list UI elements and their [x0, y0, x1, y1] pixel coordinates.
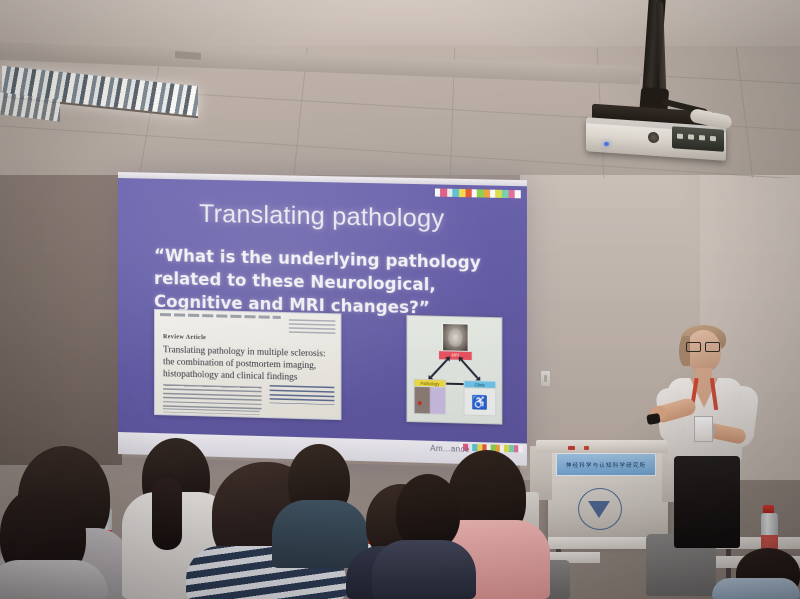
podium-indicator-led	[568, 446, 575, 450]
attendee-body	[372, 540, 476, 599]
projection-screen: Translating pathology “What is the under…	[118, 172, 527, 469]
podium-indicator-led-secondary	[584, 446, 589, 450]
light-switch[interactable]	[540, 370, 551, 387]
article-header-line	[160, 313, 281, 319]
attendee-head	[396, 474, 460, 550]
left-wall-shadowed	[0, 155, 122, 465]
journal-article-thumbnail: Review Article Translating pathology in …	[154, 309, 341, 420]
presenter-skirt	[674, 456, 740, 548]
attendee-body	[0, 560, 108, 599]
institution-logo	[578, 488, 622, 530]
wheelchair-icon: ♿	[464, 387, 497, 416]
slide-title: Translating pathology	[118, 198, 527, 236]
projector-power-led	[604, 142, 609, 146]
mri-brain-scan-image	[442, 323, 469, 352]
attendee-ponytail	[152, 478, 182, 550]
histopathology-image	[414, 386, 447, 415]
slide-footer-text: Am...ance	[430, 444, 470, 454]
arrow-mri-to-clinic	[461, 359, 479, 379]
podium-sign: 神经科学与认知科学研究所	[556, 453, 656, 476]
article-title: Translating pathology in multiple sclero…	[163, 345, 332, 385]
projector-port-panel	[672, 126, 724, 152]
arrow-mri-to-pathology	[430, 359, 448, 378]
conference-room-photo: Translating pathology “What is the under…	[0, 0, 800, 599]
presenter-glasses	[686, 342, 720, 350]
presentation-slide: Translating pathology “What is the under…	[118, 178, 527, 444]
article-kicker: Review Article	[163, 334, 206, 341]
presenter	[648, 330, 778, 568]
triangle-relationship-diagram: MRI Pathology Clinic ♿	[406, 315, 502, 425]
publisher-color-strip-top	[435, 188, 521, 198]
article-header-right-block	[289, 319, 336, 334]
ceiling-soffit	[0, 0, 800, 46]
article-author-block-left	[163, 384, 262, 411]
attendee-body	[712, 578, 800, 599]
projector-lens	[648, 132, 659, 144]
diagram-mri-label: MRI	[438, 350, 473, 361]
article-author-block-right	[270, 385, 335, 405]
podium-sign-text: 神经科学与认知科学研究所	[566, 461, 646, 469]
presenter-name-badge	[694, 416, 713, 442]
